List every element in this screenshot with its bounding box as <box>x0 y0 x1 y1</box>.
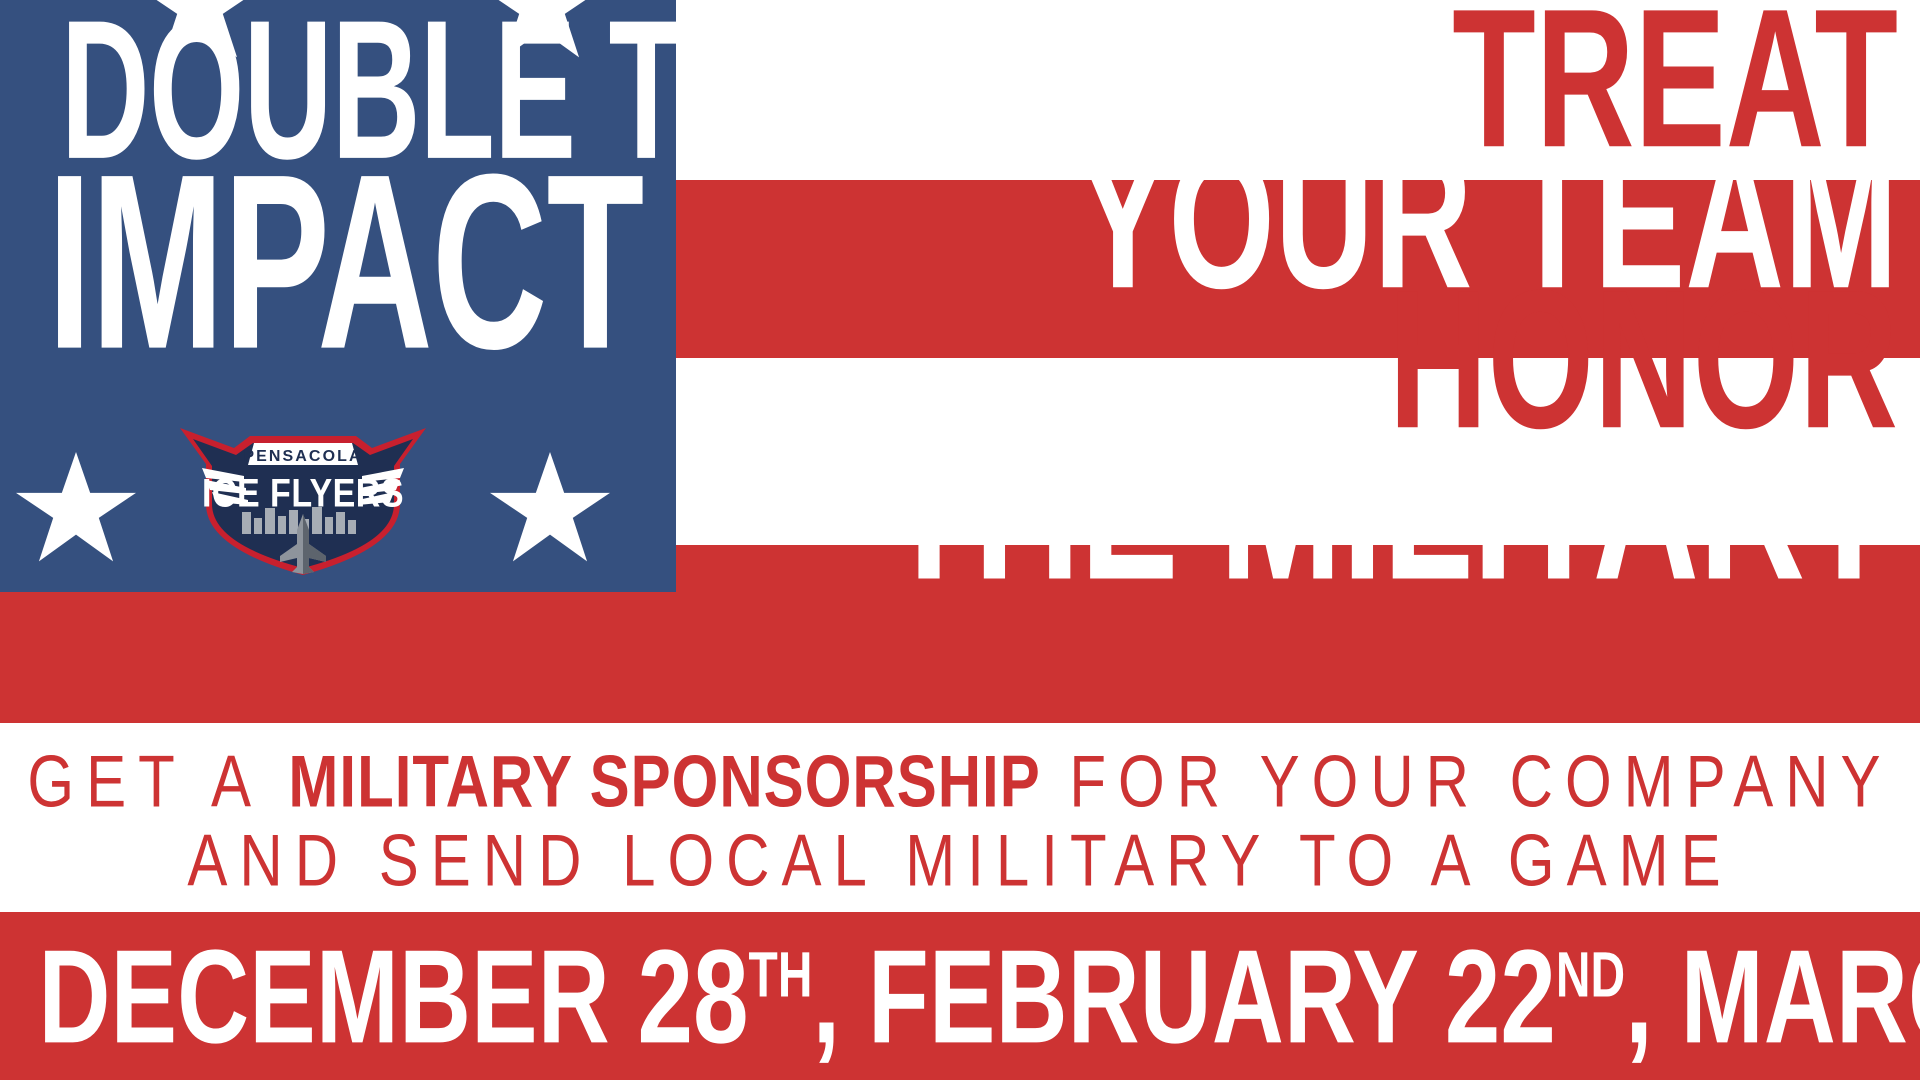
promo-poster: DOUBLE THE IMPACT PENSACOLA <box>0 0 1920 1080</box>
date-item: FEBRUARY 22ND <box>868 923 1625 1071</box>
star-icon-bottom-left <box>16 452 136 567</box>
date-separator: , <box>1625 923 1680 1071</box>
date-month: DECEMBER <box>38 923 637 1071</box>
date-month: MARCH <box>1681 923 1920 1071</box>
date-ordinal-suffix: TH <box>749 939 813 1011</box>
date-item: DECEMBER 28TH <box>38 923 812 1071</box>
date-day: 28 <box>638 923 749 1071</box>
tagline-emphasis: MILITARY SPONSORSHIP <box>288 741 1040 823</box>
date-day: 22 <box>1445 923 1556 1071</box>
date-ordinal-suffix: ND <box>1556 939 1625 1011</box>
logo-city-text: PENSACOLA <box>243 448 362 465</box>
date-month: FEBRUARY <box>868 923 1445 1071</box>
tagline-prefix: GET A <box>27 741 288 823</box>
tagline-suffix: FOR YOUR COMPANY <box>1041 741 1893 823</box>
message-line-the-military: THE MILITARY <box>757 424 1898 589</box>
headline: DOUBLE THE IMPACT <box>0 10 676 313</box>
headline-line-2: IMPACT <box>47 164 628 363</box>
dates-banner: DECEMBER 28TH, FEBRUARY 22ND, MARCH 22ND <box>0 912 1920 1080</box>
tagline-line-2: AND SEND LOCAL MILITARY TO A GAME <box>0 812 1920 909</box>
star-icon-bottom-right <box>490 452 610 567</box>
date-separator: , <box>812 923 867 1071</box>
pensacola-ice-flyers-logo: PENSACOLA ICE FLYERS <box>176 418 430 578</box>
logo-team-text: ICE FLYERS <box>202 470 404 515</box>
message-block: TREAT YOUR TEAM HONOR THE MILITARY <box>658 2 1898 548</box>
date-item: MARCH 22ND <box>1681 923 1920 1071</box>
tagline: GET A MILITARY SPONSORSHIP FOR YOUR COMP… <box>0 742 1920 900</box>
dates-text: DECEMBER 28TH, FEBRUARY 22ND, MARCH 22ND <box>38 922 1881 1074</box>
